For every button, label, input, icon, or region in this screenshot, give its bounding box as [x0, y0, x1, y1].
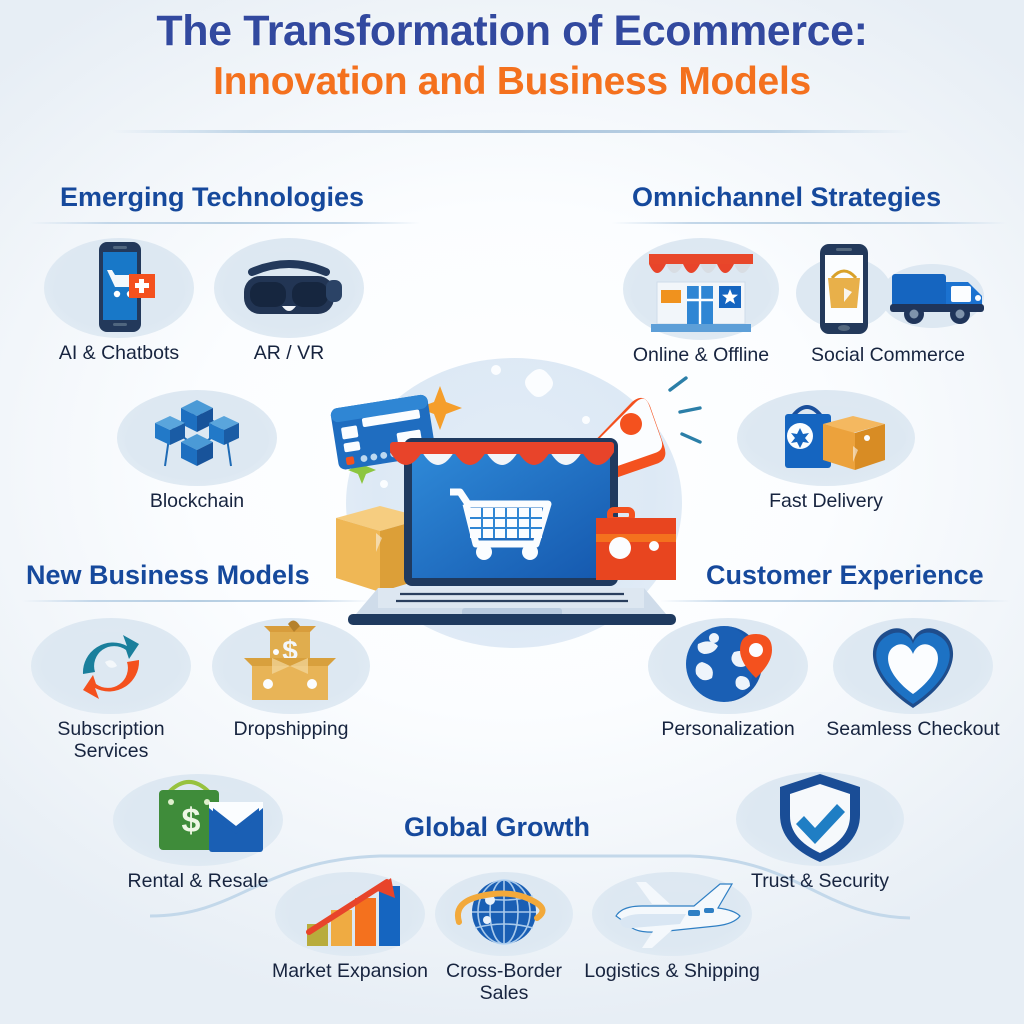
section-heading-omnichannel-strategies: Omnichannel Strategies — [632, 182, 941, 213]
section-heading-emerging-technologies: Emerging Technologies — [60, 182, 364, 213]
item-label: Subscription Services — [18, 718, 204, 762]
blockchain-cubes-icon — [117, 390, 277, 486]
item-label: Blockchain — [112, 490, 282, 512]
item-online-offline[interactable]: Online & Offline — [618, 238, 784, 366]
item-label: Cross-Border Sales — [428, 960, 580, 1004]
section-divider-emerging-technologies — [30, 222, 420, 224]
title-divider — [112, 130, 912, 133]
recycle-arrows-icon — [31, 618, 191, 714]
item-label: Market Expansion — [264, 960, 436, 982]
globe-orbit-icon — [435, 872, 573, 956]
item-label: Rental & Resale — [108, 870, 288, 892]
item-social-commerce[interactable]: Social Commerce — [788, 238, 988, 366]
section-heading-new-business-models: New Business Models — [26, 560, 310, 591]
svg-text:$: $ — [182, 802, 201, 840]
section-divider-customer-experience — [660, 600, 1010, 602]
smartphone-shopping-cart-icon — [44, 238, 194, 338]
section-divider-omnichannel-strategies — [612, 222, 1007, 224]
item-market-expansion[interactable]: Market Expansion — [264, 872, 436, 982]
item-rental-resale[interactable]: $ Rental & Resale — [108, 774, 288, 892]
globe-location-pin-icon — [648, 618, 808, 714]
item-ar-vr[interactable]: AR / VR — [204, 238, 374, 364]
item-logistics-shipping[interactable]: Logistics & Shipping — [574, 872, 770, 982]
item-blockchain[interactable]: Blockchain — [112, 390, 282, 512]
airplane-icon — [592, 872, 752, 956]
item-dropshipping[interactable]: $ Dropshipping — [206, 618, 376, 740]
item-subscription-services[interactable]: Subscription Services — [18, 618, 204, 762]
item-label: Social Commerce — [788, 344, 988, 366]
item-label: Dropshipping — [206, 718, 376, 740]
section-heading-customer-experience: Customer Experience — [706, 560, 984, 591]
item-fast-delivery[interactable]: Fast Delivery — [736, 390, 916, 512]
page-subtitle: Innovation and Business Models — [0, 60, 1024, 104]
vr-headset-icon — [214, 238, 364, 338]
briefcase-icon — [596, 510, 676, 580]
item-label: AI & Chatbots — [36, 342, 202, 364]
item-personalization[interactable]: Personalization — [642, 618, 814, 740]
shopping-bag-parcel-icon — [737, 390, 915, 486]
item-ai-chatbots[interactable]: AI & Chatbots — [36, 238, 202, 364]
item-label: Seamless Checkout — [820, 718, 1006, 740]
storefront-icon — [623, 238, 779, 340]
item-seamless-checkout[interactable]: Seamless Checkout — [820, 618, 1006, 740]
hero-graphic — [318, 352, 708, 652]
ecommerce-hero-illustration — [318, 352, 708, 652]
shield-check-icon — [736, 772, 904, 866]
boxes-dollar-icon: $ — [212, 618, 370, 714]
two-bags-dollar-icon: $ — [113, 774, 283, 866]
infographic-poster: The Transformation of Ecommerce: Innovat… — [0, 0, 1024, 1024]
page-title: The Transformation of Ecommerce: — [0, 8, 1024, 54]
item-label: Logistics & Shipping — [574, 960, 770, 982]
phone-handbag-icon — [788, 238, 988, 340]
item-label: Fast Delivery — [736, 490, 916, 512]
item-cross-border-sales[interactable]: Cross-Border Sales — [428, 872, 580, 1004]
bar-chart-arrow-icon — [275, 872, 425, 956]
item-label: Personalization — [642, 718, 814, 740]
poster-title-block: The Transformation of Ecommerce: Innovat… — [0, 8, 1024, 104]
heart-icon — [833, 618, 993, 714]
